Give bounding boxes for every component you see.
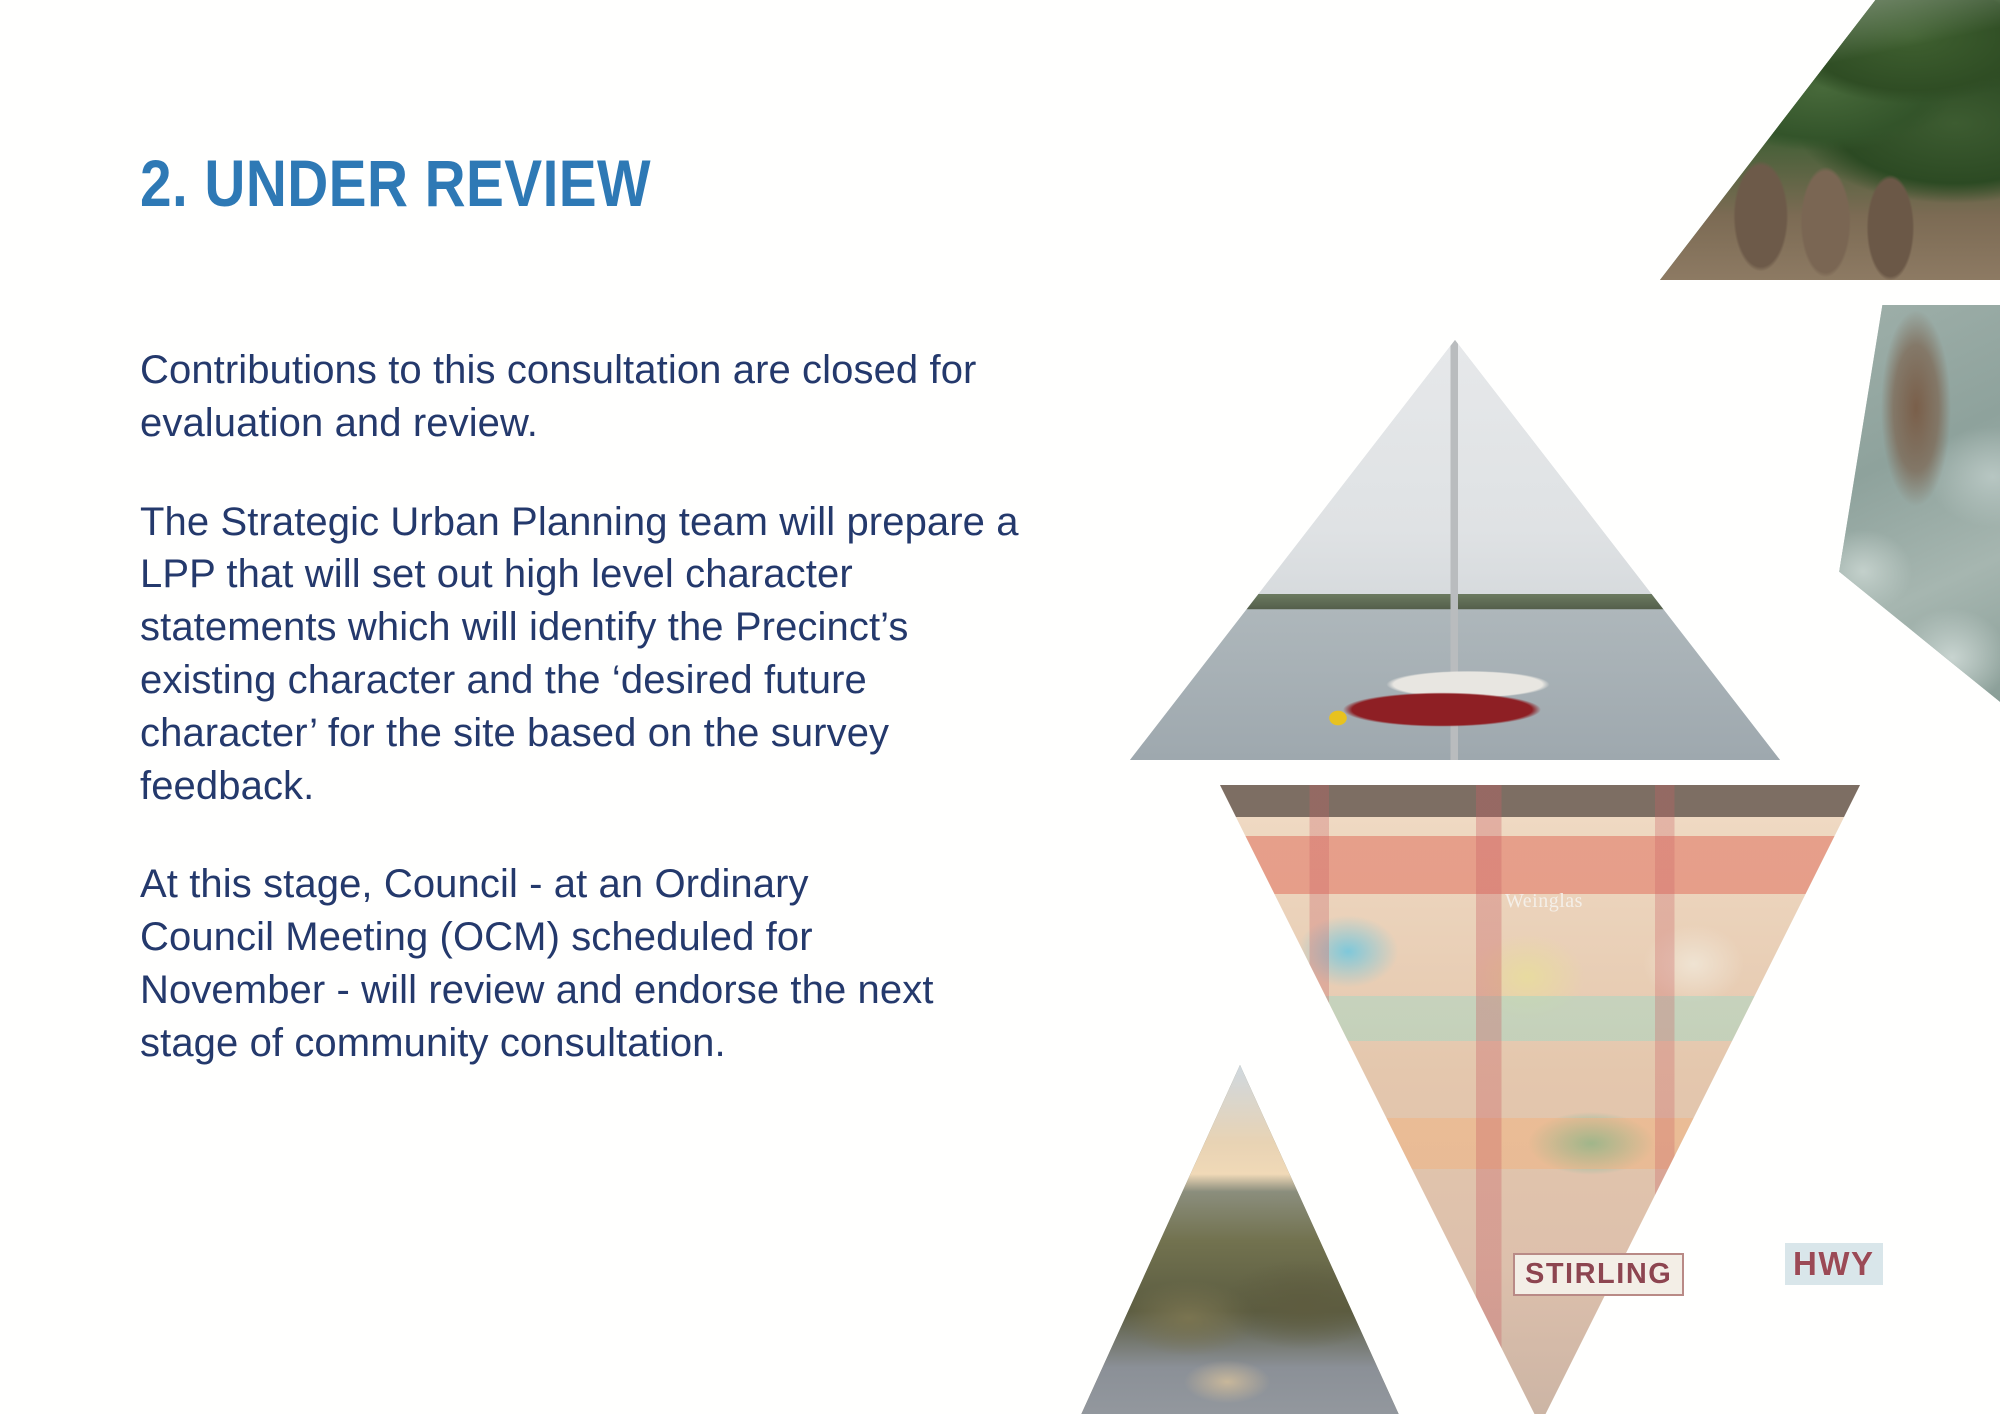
sailboat-on-river-image <box>1130 340 1780 760</box>
aerial-river-bushland-sunset-image <box>1080 1065 1400 1414</box>
norfolk-pine-street-trees-image <box>1660 0 2000 280</box>
body-copy: Contributions to this consultation are c… <box>140 344 1070 1070</box>
page-title: 2. Under Review <box>140 150 940 216</box>
paragraph-lpp-character-statements: The Strategic Urban Planning team will p… <box>140 496 1020 813</box>
image-collage <box>1060 0 2000 1414</box>
text-column: 2. Under Review Contributions to this co… <box>140 150 1070 1070</box>
paragraph-consultation-closed: Contributions to this consultation are c… <box>140 344 1040 450</box>
paragraph-council-ocm-november: At this stage, Council - at an Ordinary … <box>140 858 940 1069</box>
slide-canvas: 2. Under Review Contributions to this co… <box>0 0 2000 1414</box>
silver-native-foliage-image <box>1820 305 2000 735</box>
